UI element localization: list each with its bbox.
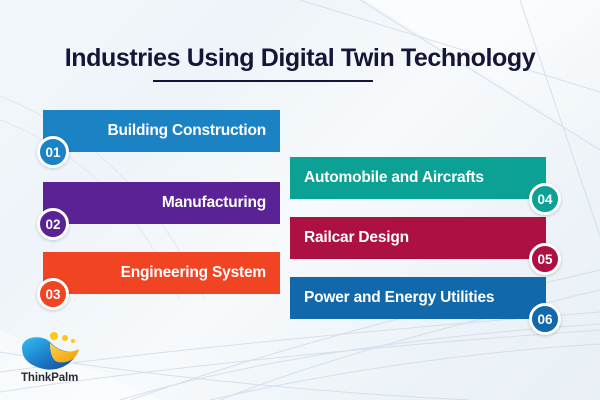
industry-bar-label: Power and Energy Utilities bbox=[304, 289, 494, 307]
industry-number-badge: 02 bbox=[37, 208, 69, 240]
page-title: Industries Using Digital Twin Technology bbox=[65, 44, 536, 73]
industry-number-badge: 05 bbox=[529, 243, 561, 275]
title-underline bbox=[153, 80, 373, 82]
thinkpalm-wordmark: ThinkPalm bbox=[21, 372, 78, 384]
industry-bar-label: Manufacturing bbox=[162, 194, 266, 212]
industry-bar-label: Automobile and Aircrafts bbox=[304, 169, 484, 187]
industry-bar-label: Building Construction bbox=[107, 122, 266, 140]
page-title-container: Industries Using Digital Twin Technology bbox=[0, 44, 600, 73]
industry-bar[interactable]: Railcar Design bbox=[290, 217, 546, 259]
industry-number-badge: 01 bbox=[37, 136, 69, 168]
industry-bar-label: Engineering System bbox=[121, 264, 266, 282]
industry-bar[interactable]: Building Construction bbox=[43, 110, 280, 152]
industry-bar-label: Railcar Design bbox=[304, 229, 409, 247]
industry-bar[interactable]: Manufacturing bbox=[43, 182, 280, 224]
industry-number-badge: 04 bbox=[529, 183, 561, 215]
industry-bar[interactable]: Engineering System bbox=[43, 252, 280, 294]
thinkpalm-logo: ThinkPalm bbox=[20, 332, 96, 390]
thinkpalm-logo-icon bbox=[20, 332, 92, 372]
industry-bar[interactable]: Automobile and Aircrafts bbox=[290, 157, 546, 199]
page-title-text: Industries Using Digital Twin Technology bbox=[65, 44, 536, 72]
infographic-canvas: Industries Using Digital Twin Technology… bbox=[0, 0, 600, 400]
industry-number-badge: 06 bbox=[529, 303, 561, 335]
industry-number-badge: 03 bbox=[37, 278, 69, 310]
industry-bar[interactable]: Power and Energy Utilities bbox=[290, 277, 546, 319]
